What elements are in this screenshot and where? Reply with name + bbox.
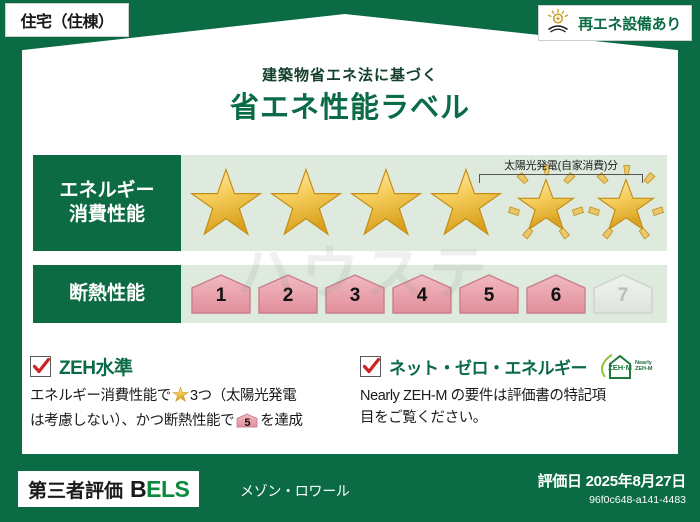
evaluation-info: 評価日 2025年8月27日 96f0c648-a141-4483 [538, 470, 686, 506]
document-id: 96f0c648-a141-4483 [538, 494, 686, 506]
insulation-level-5: 5 [457, 272, 521, 316]
evaluation-date-label: 評価日 [538, 473, 582, 490]
energy-label-line2: 消費性能 [69, 203, 145, 227]
star-filled-1 [187, 164, 265, 242]
solar-annotation-label: 太陽光発電(自家消費)分 [461, 157, 661, 173]
inline-star-icon [172, 386, 189, 410]
evaluation-date: 評価日 2025年8月27日 [538, 470, 686, 491]
zeh-standard-text-2: 3つ（太陽光発電 [190, 388, 296, 404]
net-zero-energy-description: Nearly ZEH-M の要件は評価書の特記項 目をご覧ください。 [360, 385, 680, 430]
footer-bar: 第三者評価 BELS メゾン・ロワール 評価日 2025年8月27日 96f0c… [0, 460, 700, 522]
insulation-level-6: 6 [524, 272, 588, 316]
solar-annotation-bracket [479, 174, 643, 183]
insulation-level-7: 7 [591, 272, 655, 316]
insulation-level-7-value: 7 [591, 285, 655, 307]
energy-performance-rating-area: 太陽光発電(自家消費)分 [181, 155, 667, 251]
energy-performance-label: 住宅（住棟） 再エネ設備あり 建築物省エネ法に基づく 省エネ性能ラベル [0, 0, 700, 522]
zeh-m-logo-subtext: Nearly ZEH-M [635, 360, 652, 373]
energy-label-line1: エネルギー [59, 179, 154, 203]
energy-performance-row: エネルギー 消費性能 太陽光発電(自家消費)分 [33, 155, 667, 251]
renewable-energy-badge: 再エネ設備あり [538, 5, 692, 41]
inline-insulation-badge-icon: 5 [236, 412, 258, 429]
evaluation-date-value: 2025年8月27日 [586, 473, 686, 490]
net-zero-energy-title: ネット・ゼロ・エネルギー [389, 354, 587, 379]
zeh-standard-section: ZEH水準 エネルギー消費性能で3つ（太陽光発電は考慮しない）、かつ断熱性能で5… [30, 352, 350, 433]
insulation-level-2-value: 2 [256, 285, 320, 307]
bels-certification-box: 第三者評価 BELS [18, 471, 199, 507]
third-party-evaluation-label: 第三者評価 [28, 476, 123, 503]
insulation-level-4: 4 [390, 272, 454, 316]
insulation-level-3-value: 3 [323, 285, 387, 307]
svg-text:ZEH·M: ZEH·M [608, 363, 632, 372]
renewable-energy-badge-label: 再エネ設備あり [578, 13, 681, 34]
category-tag-label: 住宅（住棟） [20, 8, 113, 32]
star-filled-2 [267, 164, 345, 242]
zeh-standard-text-3: は考慮しない）、かつ断熱性能で [30, 413, 234, 429]
zeh-m-logo: ZEH·M Nearly ZEH-M [599, 351, 652, 381]
zeh-standard-checkbox [30, 356, 51, 377]
insulation-level-3: 3 [323, 272, 387, 316]
zeh-standard-header: ZEH水準 [30, 352, 350, 380]
zeh-standard-text-1: エネルギー消費性能で [30, 388, 171, 404]
zeh-m-logo-sub-line2: ZEH-M [635, 366, 652, 372]
insulation-rating-area: 1 2 3 4 5 [181, 265, 667, 323]
bels-logo-els: ELS [146, 476, 189, 502]
category-tag: 住宅（住棟） [5, 3, 129, 37]
net-zero-energy-checkbox [360, 356, 381, 377]
label-title: 省エネ性能ラベル [0, 84, 700, 126]
solar-sun-icon [545, 8, 571, 39]
insulation-level-6-value: 6 [524, 285, 588, 307]
label-subtitle: 建築物省エネ法に基づく [0, 64, 700, 85]
bels-logo: BELS [130, 476, 189, 503]
net-zero-energy-text-line1: Nearly ZEH-M の要件は評価書の特記項 [360, 385, 680, 407]
building-name: メゾン・ロワール [240, 481, 350, 501]
net-zero-energy-section: ネット・ゼロ・エネルギー ZEH·M Nearly ZEH-M Nearly Z… [360, 352, 680, 430]
solar-generation-annotation: 太陽光発電(自家消費)分 [461, 157, 661, 183]
insulation-level-4-value: 4 [390, 285, 454, 307]
insulation-performance-row: 断熱性能 1 2 [33, 265, 667, 323]
zeh-standard-description: エネルギー消費性能で3つ（太陽光発電は考慮しない）、かつ断熱性能で5を達成 [30, 385, 350, 433]
insulation-level-1: 1 [189, 272, 253, 316]
bels-logo-b: B [130, 476, 146, 502]
insulation-level-2: 2 [256, 272, 320, 316]
insulation-level-1-value: 1 [189, 285, 253, 307]
insulation-performance-label-box: 断熱性能 [33, 265, 181, 323]
net-zero-energy-text-line2: 目をご覧ください。 [360, 407, 680, 429]
insulation-label: 断熱性能 [69, 282, 145, 306]
net-zero-energy-header: ネット・ゼロ・エネルギー ZEH·M Nearly ZEH-M [360, 352, 680, 380]
insulation-level-5-value: 5 [457, 285, 521, 307]
zeh-standard-text-4: を達成 [260, 413, 302, 429]
insulation-level-scale: 1 2 3 4 5 [181, 272, 655, 316]
energy-performance-label-box: エネルギー 消費性能 [33, 155, 181, 251]
star-filled-3 [347, 164, 425, 242]
inline-insulation-badge-value: 5 [236, 415, 258, 432]
zeh-standard-title: ZEH水準 [59, 353, 133, 380]
